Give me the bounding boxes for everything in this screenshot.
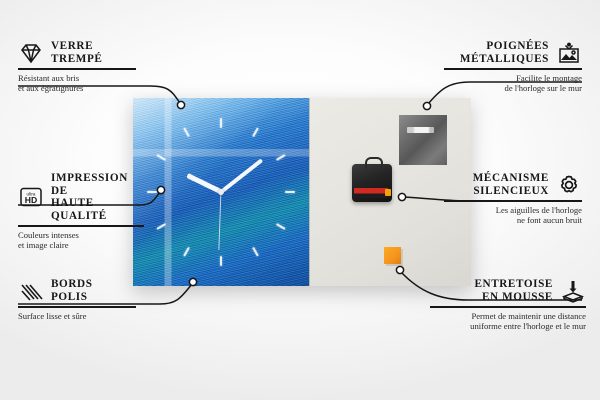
ultra-hd-badge-icon: ultra HD bbox=[18, 185, 44, 209]
hour-hand bbox=[186, 173, 222, 194]
callout-title: BORDS bbox=[51, 278, 93, 291]
callout-title: ENTRETOISE bbox=[474, 278, 553, 291]
clock-front-view bbox=[133, 98, 309, 286]
gear-icon bbox=[556, 173, 582, 197]
hour-tick bbox=[252, 127, 259, 137]
divider bbox=[444, 68, 582, 70]
callout-mecanisme-silencieux: MÉCANISME SILENCIEUX Les aiguilles de l'… bbox=[442, 172, 582, 226]
callout-bords-polis: BORDS POLIS Surface lisse et sûre bbox=[18, 278, 138, 321]
callout-title: MÉTALLIQUES bbox=[460, 53, 549, 66]
divider bbox=[18, 306, 136, 308]
callout-subtitle: Facilite le montage bbox=[442, 73, 582, 83]
callout-subtitle: Les aiguilles de l'horloge bbox=[442, 205, 582, 215]
callout-subtitle: Surface lisse et sûre bbox=[18, 311, 138, 321]
callout-entretoise-en-mousse: ENTRETOISE EN MOUSSE Permet de maintenir… bbox=[428, 278, 586, 332]
quartz-movement bbox=[352, 164, 392, 202]
hour-tick bbox=[285, 191, 295, 193]
callout-impression-haute-qualite: ultra HD IMPRESSION DE HAUTE QUALITÉ Cou… bbox=[18, 172, 146, 251]
callout-title: HAUTE QUALITÉ bbox=[51, 197, 146, 222]
movement-hanger-loop bbox=[365, 157, 383, 169]
divider bbox=[430, 306, 586, 308]
callout-subtitle: Résistant aux bris bbox=[18, 73, 138, 83]
diamond-icon bbox=[18, 41, 44, 65]
battery bbox=[354, 188, 388, 198]
hour-tick bbox=[183, 127, 190, 137]
metal-hanger-plate bbox=[399, 115, 447, 165]
hour-tick bbox=[220, 118, 222, 128]
callout-title: SILENCIEUX bbox=[473, 185, 549, 198]
clock-dial bbox=[133, 98, 309, 286]
foam-spacer bbox=[384, 247, 401, 264]
hands-center-pin bbox=[218, 189, 224, 195]
divider bbox=[18, 68, 136, 70]
product-image bbox=[133, 98, 470, 286]
callout-title: VERRE bbox=[51, 40, 102, 53]
hour-tick bbox=[252, 247, 259, 257]
callout-subtitle: uniforme entre l'horloge et le mur bbox=[428, 321, 586, 331]
divider bbox=[18, 225, 144, 227]
callout-title: POLIS bbox=[51, 291, 93, 304]
hour-tick bbox=[220, 256, 222, 266]
callout-title: MÉCANISME bbox=[473, 172, 549, 185]
hour-tick bbox=[276, 154, 286, 161]
polished-edges-icon bbox=[18, 279, 44, 303]
callout-subtitle: Permet de maintenir une distance bbox=[428, 311, 586, 321]
callout-subtitle: et image claire bbox=[18, 240, 146, 250]
hd-label: HD bbox=[25, 195, 37, 205]
divider bbox=[444, 200, 582, 202]
second-hand bbox=[218, 192, 221, 250]
hour-tick bbox=[276, 223, 286, 230]
hour-tick bbox=[147, 191, 157, 193]
callout-verre-trempe: VERRE TREMPÉ Résistant aux bris et aux é… bbox=[18, 40, 138, 94]
callout-poignees-metalliques: POIGNÉES MÉTALLIQUES Facilite le montage… bbox=[442, 40, 582, 94]
foam-spacer-icon bbox=[560, 279, 586, 303]
callout-subtitle: ne font aucun bruit bbox=[442, 215, 582, 225]
callout-subtitle: Couleurs intenses bbox=[18, 230, 146, 240]
hour-tick bbox=[156, 154, 166, 161]
minute-hand bbox=[220, 158, 263, 193]
callout-subtitle: et aux égratignures bbox=[18, 83, 138, 93]
callout-title: POIGNÉES bbox=[460, 40, 549, 53]
callout-subtitle: de l'horloge sur le mur bbox=[442, 83, 582, 93]
callout-title: IMPRESSION DE bbox=[51, 172, 146, 197]
infographic-canvas: VERRE TREMPÉ Résistant aux bris et aux é… bbox=[0, 0, 600, 400]
hour-tick bbox=[156, 223, 166, 230]
callout-title: TREMPÉ bbox=[51, 53, 102, 66]
hour-tick bbox=[183, 247, 190, 257]
callout-title: EN MOUSSE bbox=[474, 291, 553, 304]
picture-hanger-icon bbox=[556, 41, 582, 65]
